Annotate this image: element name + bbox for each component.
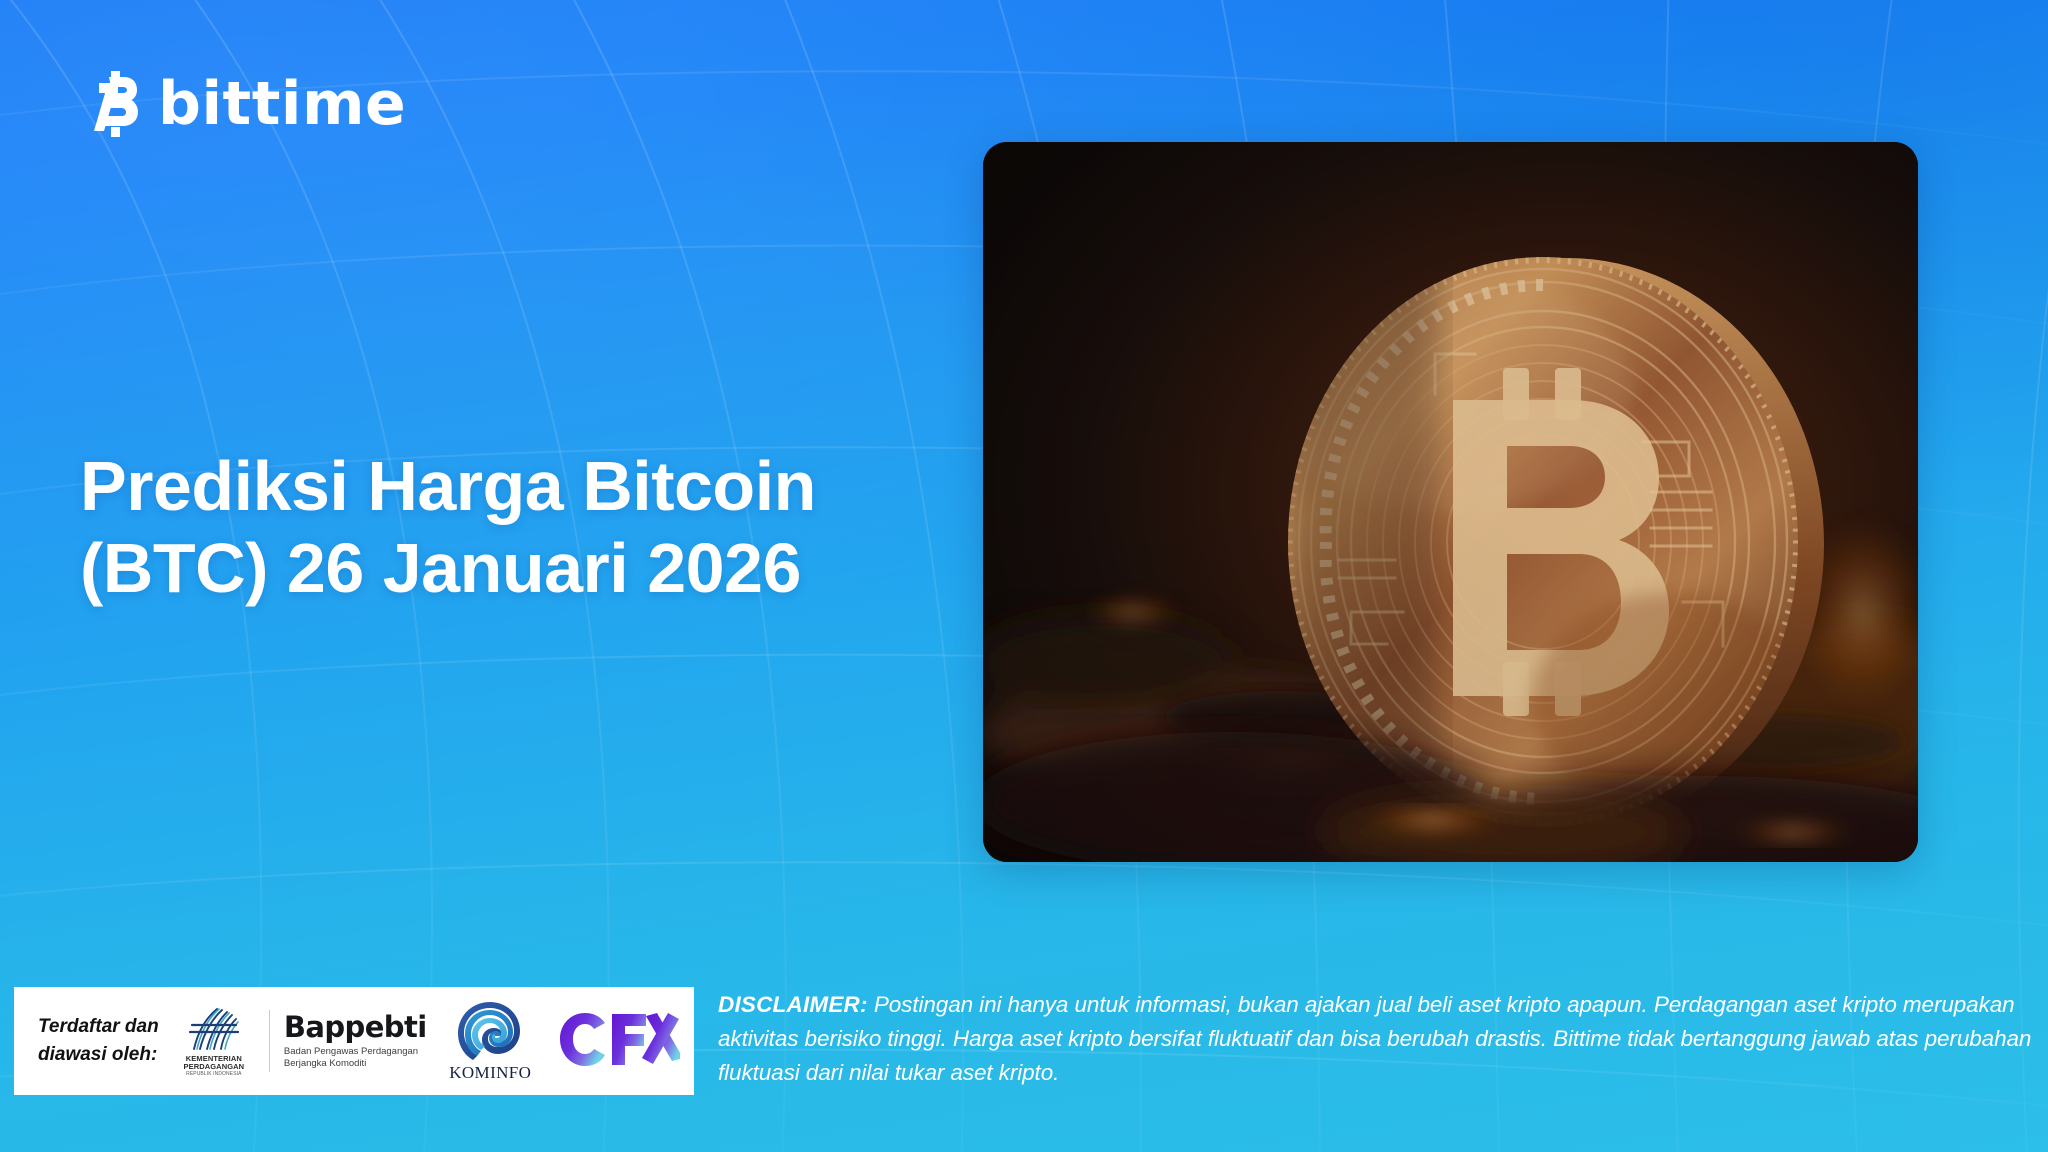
- bappebti-logo: Bappebti Badan Pengawas Perdagangan Berj…: [284, 1013, 427, 1070]
- regulator-badge-intro: Terdaftar dan diawasi oleh:: [38, 1013, 159, 1070]
- page-title-line-1: Prediksi Harga Bitcoin: [80, 447, 816, 525]
- kementerian-perdagangan-icon: [186, 1005, 242, 1053]
- poster-canvas: bittime Prediksi Harga Bitcoin (BTC) 26 …: [0, 0, 2048, 1152]
- kominfo-logo: KOMINFO: [441, 1000, 540, 1083]
- regulator-badge: Terdaftar dan diawasi oleh:: [14, 987, 694, 1095]
- disclaimer-body: Postingan ini hanya untuk informasi, buk…: [718, 992, 2031, 1085]
- kemendag-label-line-3: REPUBLIK INDONESIA: [184, 1072, 245, 1078]
- kemendag-logo: KEMENTERIAN PERDAGANGAN REPUBLIK INDONES…: [173, 1005, 255, 1077]
- brand-logo[interactable]: bittime: [78, 68, 406, 140]
- disclaimer-text: DISCLAIMER: Postingan ini hanya untuk in…: [718, 988, 2036, 1091]
- cfx-logo-icon: [554, 1009, 680, 1073]
- kominfo-swirl-icon: [457, 1000, 523, 1062]
- kemendag-label: KEMENTERIAN PERDAGANGAN REPUBLIK INDONES…: [184, 1055, 245, 1077]
- badge-divider: [269, 1010, 270, 1072]
- bappebti-subtitle-line-1: Badan Pengawas Perdagangan: [284, 1046, 418, 1057]
- kemendag-label-line-2: PERDAGANGAN: [184, 1062, 245, 1071]
- brand-wordmark: bittime: [158, 74, 406, 134]
- disclaimer-label: DISCLAIMER:: [718, 992, 868, 1017]
- cfx-logo: [554, 1009, 680, 1073]
- page-title: Prediksi Harga Bitcoin (BTC) 26 Januari …: [80, 445, 980, 610]
- bappebti-subtitle: Badan Pengawas Perdagangan Berjangka Kom…: [284, 1046, 427, 1070]
- regulator-badge-intro-line-2: diawasi oleh:: [38, 1041, 159, 1070]
- bappebti-name: Bappebti: [284, 1013, 427, 1042]
- bittime-b-mark-icon: [78, 69, 140, 139]
- kominfo-label: KOMINFO: [449, 1063, 531, 1083]
- page-title-line-2: (BTC) 26 Januari 2026: [80, 527, 980, 610]
- regulator-badge-intro-line-1: Terdaftar dan: [38, 1013, 159, 1042]
- hero-image: [983, 142, 1918, 862]
- bappebti-subtitle-line-2: Berjangka Komoditi: [284, 1058, 366, 1069]
